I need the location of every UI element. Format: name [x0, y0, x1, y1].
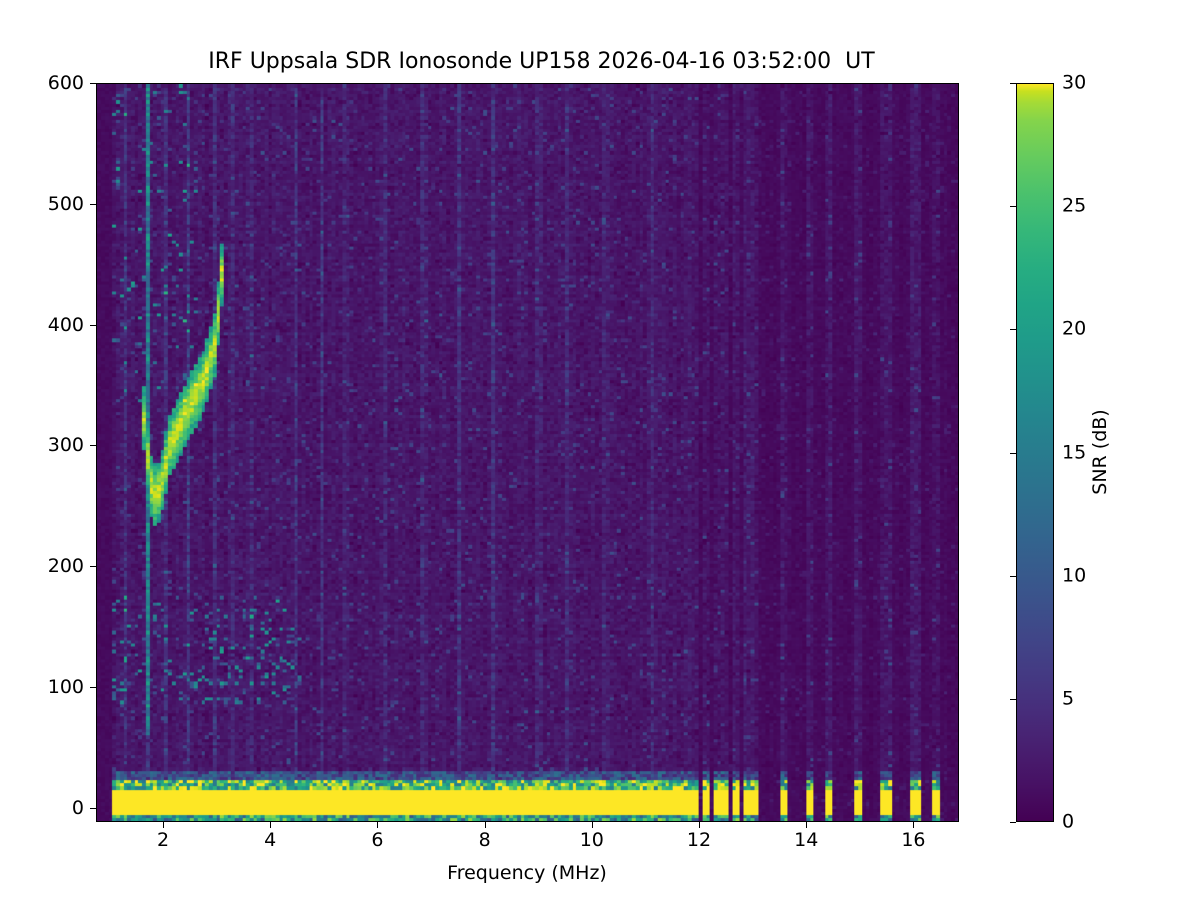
y-tick-mark	[90, 808, 96, 809]
x-tick-label: 8	[479, 831, 491, 850]
colorbar	[1016, 83, 1054, 822]
x-tick-label: 4	[264, 831, 276, 850]
colorbar-tick-label: 5	[1062, 689, 1074, 708]
y-tick-mark	[90, 687, 96, 688]
y-tick-label: 0	[0, 799, 84, 818]
ionogram-figure: IRF Uppsala SDR Ionosonde UP158 2026-04-…	[0, 0, 1200, 900]
x-tick-mark	[699, 822, 700, 828]
y-tick-mark	[90, 204, 96, 205]
colorbar-tick-mark	[1010, 699, 1016, 700]
x-tick-mark	[806, 822, 807, 828]
x-tick-mark	[163, 822, 164, 828]
x-tick-label: 12	[687, 831, 711, 850]
x-tick-mark	[485, 822, 486, 828]
colorbar-tick-label: 25	[1062, 197, 1086, 216]
ionogram-plot-area	[96, 83, 959, 822]
x-tick-label: 2	[157, 831, 169, 850]
y-tick-label: 500	[0, 195, 84, 214]
colorbar-tick-label: 10	[1062, 566, 1086, 585]
x-axis-label: Frequency (MHz)	[447, 862, 607, 884]
x-tick-label: 16	[901, 831, 925, 850]
x-tick-label: 6	[371, 831, 383, 850]
colorbar-tick-mark	[1010, 576, 1016, 577]
colorbar-tick-mark	[1010, 206, 1016, 207]
ionogram-heatmap	[97, 84, 958, 821]
x-tick-label: 14	[794, 831, 818, 850]
y-tick-label: 300	[0, 436, 84, 455]
y-tick-label: 600	[0, 74, 84, 93]
y-tick-label: 200	[0, 557, 84, 576]
x-tick-mark	[270, 822, 271, 828]
colorbar-tick-mark	[1010, 329, 1016, 330]
y-tick-mark	[90, 445, 96, 446]
x-tick-label: 10	[580, 831, 604, 850]
y-tick-label: 400	[0, 316, 84, 335]
colorbar-tick-mark	[1010, 822, 1016, 823]
colorbar-tick-mark	[1010, 83, 1016, 84]
title-line-1: IRF Uppsala SDR Ionosonde UP158 2026-04-…	[208, 49, 874, 74]
colorbar-tick-mark	[1010, 453, 1016, 454]
colorbar-tick-label: 0	[1062, 813, 1074, 832]
colorbar-tick-label: 20	[1062, 320, 1086, 339]
y-tick-mark	[90, 325, 96, 326]
x-tick-mark	[592, 822, 593, 828]
colorbar-tick-label: 30	[1062, 74, 1086, 93]
y-tick-mark	[90, 566, 96, 567]
y-tick-label: 100	[0, 678, 84, 697]
x-tick-mark	[913, 822, 914, 828]
colorbar-label: SNR (dB)	[1089, 409, 1111, 494]
x-tick-mark	[377, 822, 378, 828]
y-tick-mark	[90, 83, 96, 84]
colorbar-tick-label: 15	[1062, 443, 1086, 462]
